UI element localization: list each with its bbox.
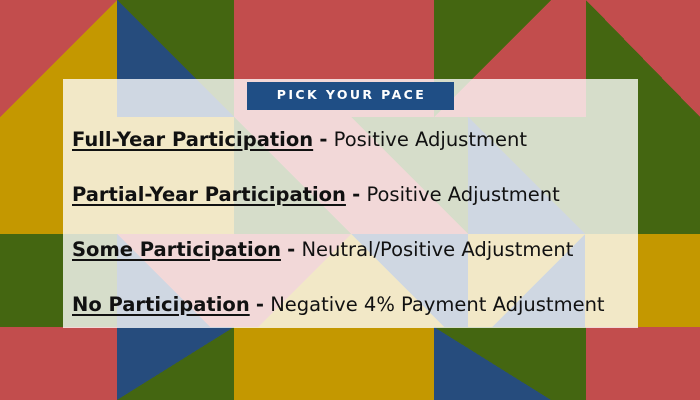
row-description: Negative 4% Payment Adjustment bbox=[270, 293, 604, 316]
quilt-cell bbox=[0, 327, 117, 400]
quilt-cell bbox=[586, 327, 700, 400]
list-item: Partial-Year Participation - Positive Ad… bbox=[72, 185, 638, 205]
row-description: Positive Adjustment bbox=[366, 183, 559, 206]
list-item: Some Participation - Neutral/Positive Ad… bbox=[72, 240, 638, 260]
quilt-cell bbox=[551, 327, 586, 400]
row-term: No Participation bbox=[72, 293, 250, 316]
overlay-content: PICK YOUR PACE Full-Year Participation -… bbox=[63, 79, 638, 328]
row-description: Neutral/Positive Adjustment bbox=[301, 238, 573, 261]
quilt-cell bbox=[234, 327, 434, 400]
infographic-canvas: PICK YOUR PACE Full-Year Participation -… bbox=[0, 0, 700, 400]
row-description: Positive Adjustment bbox=[334, 128, 527, 151]
row-term: Some Participation bbox=[72, 238, 281, 261]
pick-your-pace-banner: PICK YOUR PACE bbox=[247, 82, 454, 110]
row-separator: - bbox=[256, 293, 264, 316]
list-item: No Participation - Negative 4% Payment A… bbox=[72, 295, 638, 315]
row-term: Partial-Year Participation bbox=[72, 183, 346, 206]
list-item: Full-Year Participation - Positive Adjus… bbox=[72, 130, 638, 150]
row-term: Full-Year Participation bbox=[72, 128, 313, 151]
banner-container: PICK YOUR PACE bbox=[63, 82, 638, 110]
